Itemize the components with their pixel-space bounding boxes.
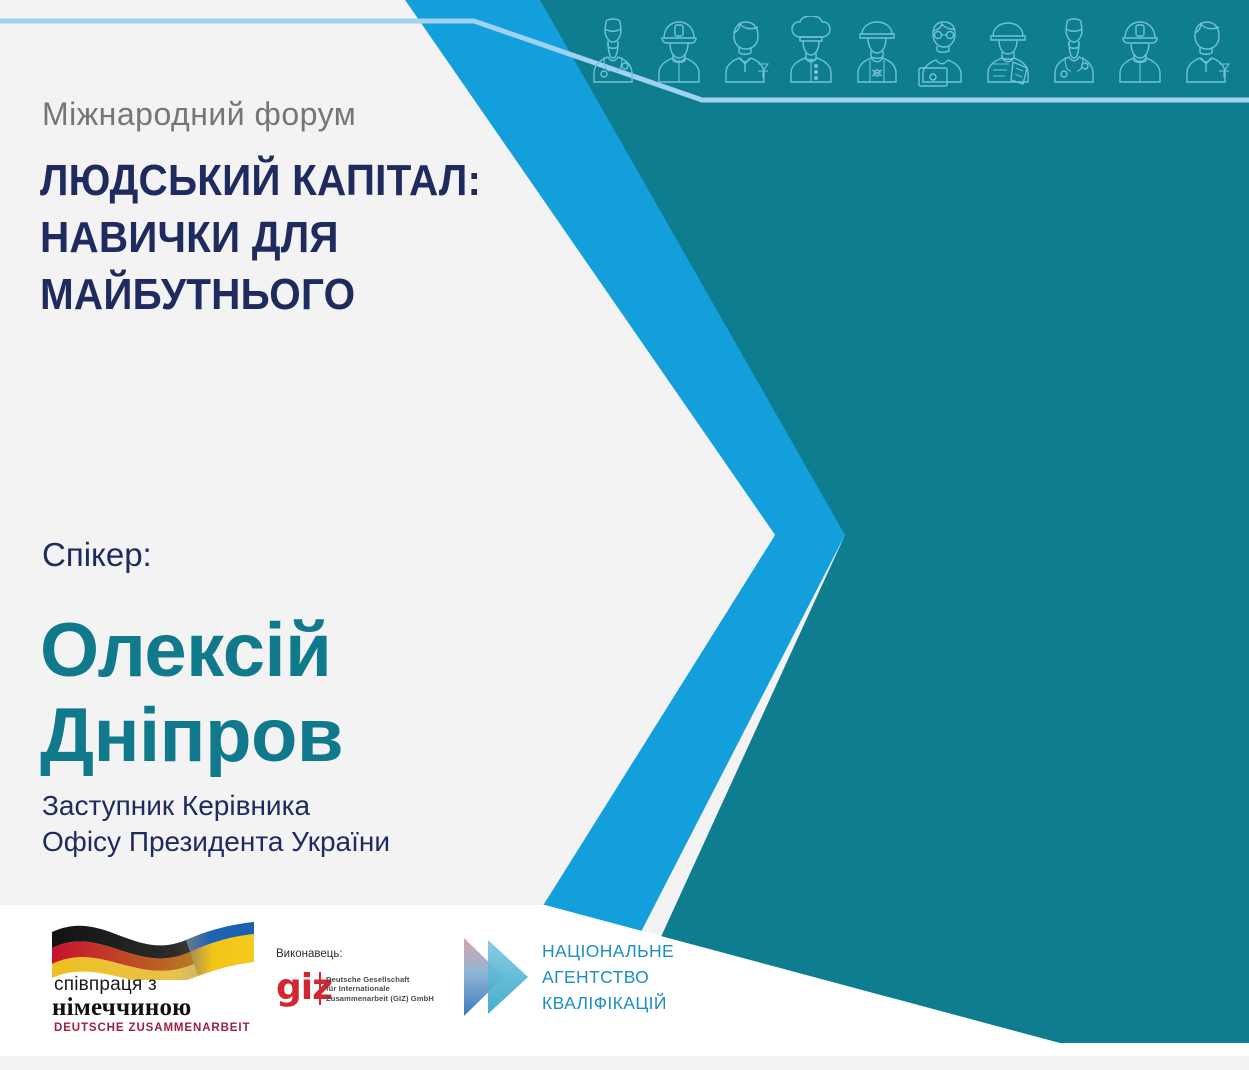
german-ukraine-ribbon-icon: [46, 918, 260, 980]
giz-logo: Виконавець: giz Deutsche Gesellschaft fü…: [276, 948, 436, 1018]
speaker-first-name: Олексій: [40, 608, 560, 693]
speaker-role-line-1: Заступник Керівника: [42, 788, 582, 824]
page-title: ЛЮДСЬКИЙ КАПІТАЛ: НАВИЧКИ ДЛЯ МАЙБУТНЬОГ…: [40, 152, 518, 324]
title-line-1: ЛЮДСЬКИЙ КАПІТАЛ:: [40, 152, 518, 209]
giz-tagline-line-3: Zusammenarbeit (GIZ) GmbH: [326, 994, 434, 1003]
title-line-3: МАЙБУТНЬОГО: [40, 266, 518, 323]
speaker-last-name: Дніпров: [40, 693, 560, 778]
german-coop-line-2: німеччиною: [52, 994, 191, 1022]
nqa-line-3: КВАЛІФІКАЦІЙ: [542, 990, 674, 1016]
nqa-name: НАЦІОНАЛЬНЕ АГЕНТСТВО КВАЛІФІКАЦІЙ: [542, 938, 674, 1016]
nqa-line-2: АГЕНТСТВО: [542, 964, 674, 990]
speaker-label: Спікер:: [42, 536, 152, 574]
forum-banner: Міжнародний форум ЛЮДСЬКИЙ КАПІТАЛ: НАВИ…: [0, 0, 1249, 1070]
speaker-name: Олексій Дніпров: [40, 608, 560, 778]
speaker-role-line-2: Офісу Президента України: [42, 824, 582, 860]
giz-tagline-line-2: für Internationale: [326, 984, 434, 993]
nqa-logo: НАЦІОНАЛЬНЕ АГЕНТСТВО КВАЛІФІКАЦІЙ: [462, 932, 692, 1032]
content-column: Міжнародний форум ЛЮДСЬКИЙ КАПІТАЛ: НАВИ…: [0, 0, 620, 1070]
speaker-role: Заступник Керівника Офісу Президента Укр…: [42, 788, 582, 861]
giz-tagline-line-1: Deutsche Gesellschaft: [326, 975, 434, 984]
giz-divider: [319, 972, 321, 1005]
event-kicker: Міжнародний форум: [42, 96, 356, 133]
giz-wordmark: giz: [276, 970, 332, 1006]
chevron-arrow-icon: [462, 934, 534, 1020]
german-coop-line-1: співпраця з: [54, 974, 157, 996]
german-cooperation-logo: співпраця з німеччиною DEUTSCHE ZUSAMMEN…: [38, 918, 268, 1033]
title-line-2: НАВИЧКИ ДЛЯ: [40, 209, 518, 266]
giz-tagline: Deutsche Gesellschaft für Internationale…: [326, 975, 434, 1003]
giz-caption: Виконавець:: [276, 948, 343, 960]
german-coop-line-3: DEUTSCHE ZUSAMMENARBEIT: [54, 1022, 250, 1034]
nqa-line-1: НАЦІОНАЛЬНЕ: [542, 938, 674, 964]
